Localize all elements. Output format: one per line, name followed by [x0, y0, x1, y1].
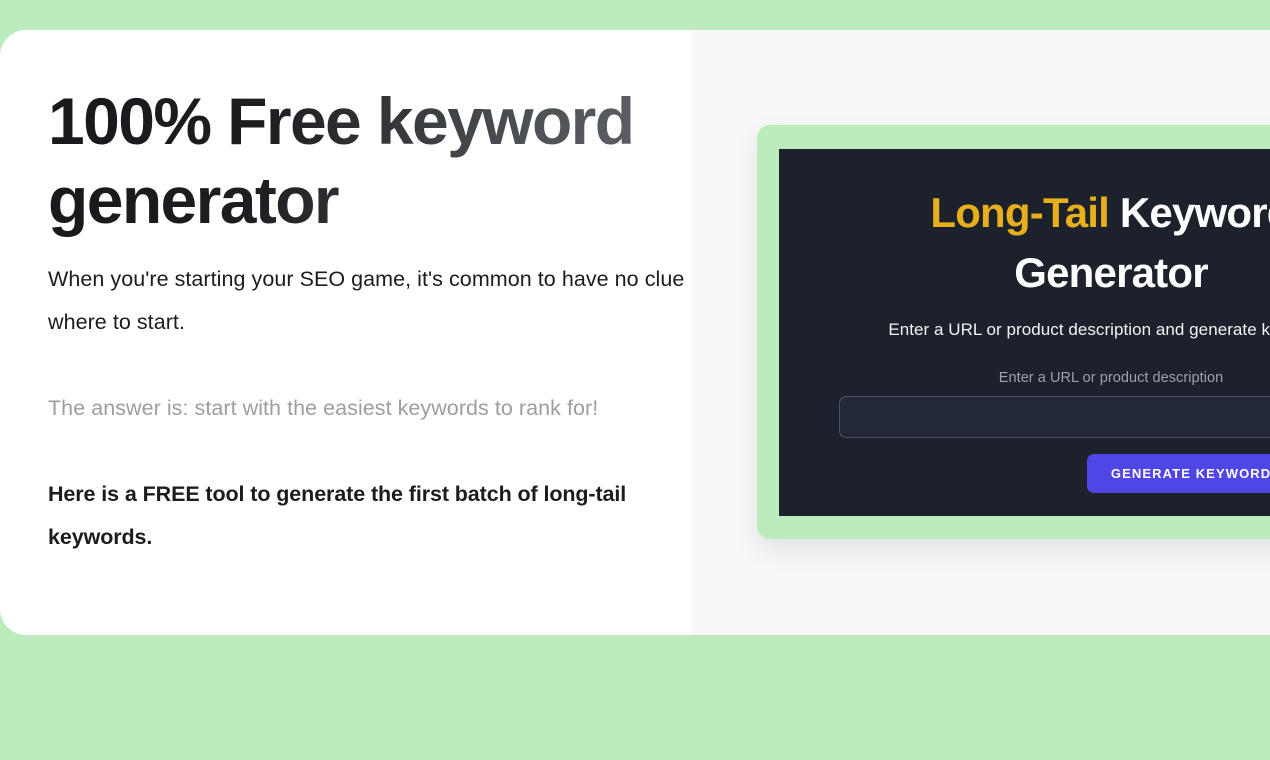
url-field-block: Enter a URL or product description	[779, 370, 1270, 438]
keyword-generator-content: Long-Tail Keyword Generator Enter a URL …	[779, 149, 1270, 493]
keyword-generator-subtitle: Enter a URL or product description and g…	[779, 320, 1270, 340]
hero-paragraph-3: Here is a FREE tool to generate the firs…	[48, 473, 688, 559]
hero-paragraph-2: The answer is: start with the easiest ke…	[48, 387, 688, 430]
keyword-generator-title: Long-Tail Keyword Generator	[779, 183, 1270, 303]
tool-preview-stage: Long-Tail Keyword Generator Enter a URL …	[692, 30, 1270, 635]
tool-preview-frame: Long-Tail Keyword Generator Enter a URL …	[757, 125, 1270, 539]
generate-keywords-button[interactable]: GENERATE KEYWORDS	[1087, 454, 1270, 493]
keyword-generator-title-accent: Long-Tail	[930, 189, 1120, 236]
keyword-generator-title-rest: Keyword	[1120, 189, 1270, 236]
generate-button-row: GENERATE KEYWORDS	[779, 454, 1270, 493]
hero-paragraph-1: When you're starting your SEO game, it's…	[48, 258, 688, 344]
url-field-label: Enter a URL or product description	[779, 370, 1270, 386]
url-input[interactable]	[839, 396, 1270, 438]
keyword-generator-panel: Long-Tail Keyword Generator Enter a URL …	[779, 149, 1270, 516]
hero-card: 100% Free keyword generator When you're …	[0, 30, 1270, 635]
hero-copy-column: 100% Free keyword generator When you're …	[48, 82, 688, 559]
keyword-generator-title-line2: Generator	[779, 243, 1270, 303]
page-title: 100% Free keyword generator	[48, 82, 688, 240]
